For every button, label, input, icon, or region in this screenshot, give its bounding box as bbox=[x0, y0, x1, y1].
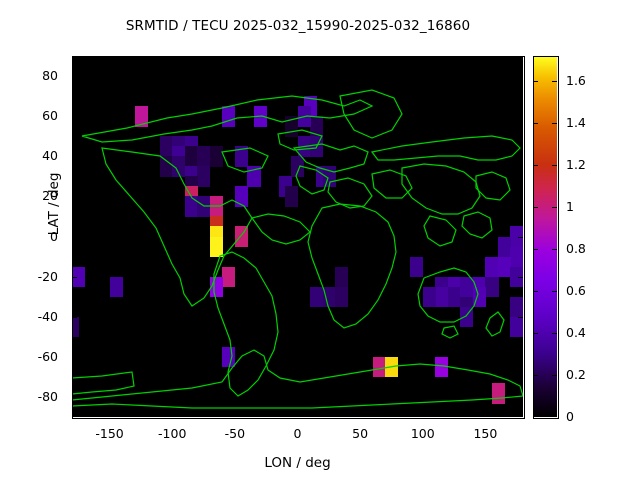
colorbar-tick-mark bbox=[552, 291, 557, 292]
x-axis-tick-label: 0 bbox=[268, 426, 328, 441]
y-axis-tick-label: -80 bbox=[14, 391, 58, 403]
colorbar-tick-mark bbox=[533, 333, 538, 334]
colorbar-tick-label: 0.6 bbox=[566, 285, 606, 297]
x-axis-tick-mark bbox=[110, 56, 111, 61]
y-axis-tick-mark bbox=[72, 237, 77, 238]
colorbar-tick-mark bbox=[533, 375, 538, 376]
colorbar-tick-mark bbox=[552, 249, 557, 250]
y-axis-tick-label: 0 bbox=[14, 231, 58, 243]
x-axis-tick-mark bbox=[423, 412, 424, 417]
y-axis-tick-mark bbox=[518, 116, 523, 117]
colorbar-tick-mark bbox=[552, 333, 557, 334]
y-axis-tick-mark bbox=[72, 196, 77, 197]
x-axis-tick-mark bbox=[235, 412, 236, 417]
y-axis-tick-mark bbox=[72, 357, 77, 358]
y-axis-tick-mark bbox=[72, 317, 77, 318]
x-axis-tick-mark bbox=[360, 412, 361, 417]
y-axis-tick-mark bbox=[72, 116, 77, 117]
y-axis-tick-label: -60 bbox=[14, 351, 58, 363]
x-axis-tick-mark bbox=[485, 56, 486, 61]
y-axis-tick-mark bbox=[518, 277, 523, 278]
y-axis-tick-mark bbox=[72, 76, 77, 77]
colorbar-tick-mark bbox=[533, 165, 538, 166]
y-axis-tick-label: -40 bbox=[14, 311, 58, 323]
y-axis-tick-label: 80 bbox=[14, 70, 58, 82]
x-axis-label: LON / deg bbox=[72, 455, 523, 471]
x-axis-tick-label: 150 bbox=[455, 426, 515, 441]
colorbar-tick-mark bbox=[533, 291, 538, 292]
colorbar bbox=[533, 56, 557, 417]
x-axis-tick-mark bbox=[360, 56, 361, 61]
colorbar-tick-label: 0 bbox=[566, 411, 606, 423]
colorbar-gradient bbox=[533, 56, 557, 417]
y-axis-tick-label: 20 bbox=[14, 190, 58, 202]
colorbar-tick-mark bbox=[552, 123, 557, 124]
plot-area bbox=[72, 56, 523, 417]
colorbar-tick-mark bbox=[552, 81, 557, 82]
x-axis-tick-mark bbox=[110, 412, 111, 417]
x-axis-tick-mark bbox=[172, 412, 173, 417]
y-axis-tick-mark bbox=[518, 156, 523, 157]
colorbar-tick-label: 1.4 bbox=[566, 117, 606, 129]
colorbar-tick-mark bbox=[552, 375, 557, 376]
x-axis-tick-label: -100 bbox=[142, 426, 202, 441]
y-axis-tick-mark bbox=[518, 357, 523, 358]
x-axis-tick-mark bbox=[485, 412, 486, 417]
x-axis-tick-mark bbox=[423, 56, 424, 61]
y-axis-tick-label: 60 bbox=[14, 110, 58, 122]
coastline-overlay bbox=[72, 56, 523, 417]
colorbar-tick-label: 1 bbox=[566, 201, 606, 213]
x-axis-tick-mark bbox=[235, 56, 236, 61]
x-axis-tick-label: -150 bbox=[80, 426, 140, 441]
colorbar-tick-mark bbox=[533, 81, 538, 82]
colorbar-tick-label: 1.6 bbox=[566, 75, 606, 87]
y-axis-tick-mark bbox=[72, 156, 77, 157]
y-axis-tick-mark bbox=[518, 397, 523, 398]
x-axis-tick-label: -50 bbox=[205, 426, 265, 441]
x-axis-tick-label: 100 bbox=[393, 426, 453, 441]
y-axis-tick-mark bbox=[72, 397, 77, 398]
y-axis-tick-mark bbox=[72, 277, 77, 278]
x-axis-tick-mark bbox=[172, 56, 173, 61]
x-axis-tick-mark bbox=[298, 56, 299, 61]
y-axis-tick-label: -20 bbox=[14, 271, 58, 283]
y-axis-tick-mark bbox=[518, 237, 523, 238]
y-axis-tick-mark bbox=[518, 76, 523, 77]
page-title: SRMTID / TECU 2025-032_15990-2025-032_16… bbox=[0, 18, 596, 34]
colorbar-tick-mark bbox=[552, 165, 557, 166]
colorbar-tick-label: 0.4 bbox=[566, 327, 606, 339]
y-axis-tick-mark bbox=[518, 196, 523, 197]
colorbar-tick-mark bbox=[552, 207, 557, 208]
heatmap-chart: SRMTID / TECU 2025-032_15990-2025-032_16… bbox=[0, 0, 640, 480]
colorbar-tick-mark bbox=[533, 249, 538, 250]
y-axis-tick-mark bbox=[518, 317, 523, 318]
colorbar-tick-label: 0.2 bbox=[566, 369, 606, 381]
x-axis-tick-mark bbox=[298, 412, 299, 417]
colorbar-tick-label: 1.2 bbox=[566, 159, 606, 171]
colorbar-tick-mark bbox=[533, 207, 538, 208]
y-axis-tick-label: 40 bbox=[14, 150, 58, 162]
x-axis-tick-label: 50 bbox=[330, 426, 390, 441]
colorbar-tick-label: 0.8 bbox=[566, 243, 606, 255]
colorbar-tick-mark bbox=[533, 123, 538, 124]
